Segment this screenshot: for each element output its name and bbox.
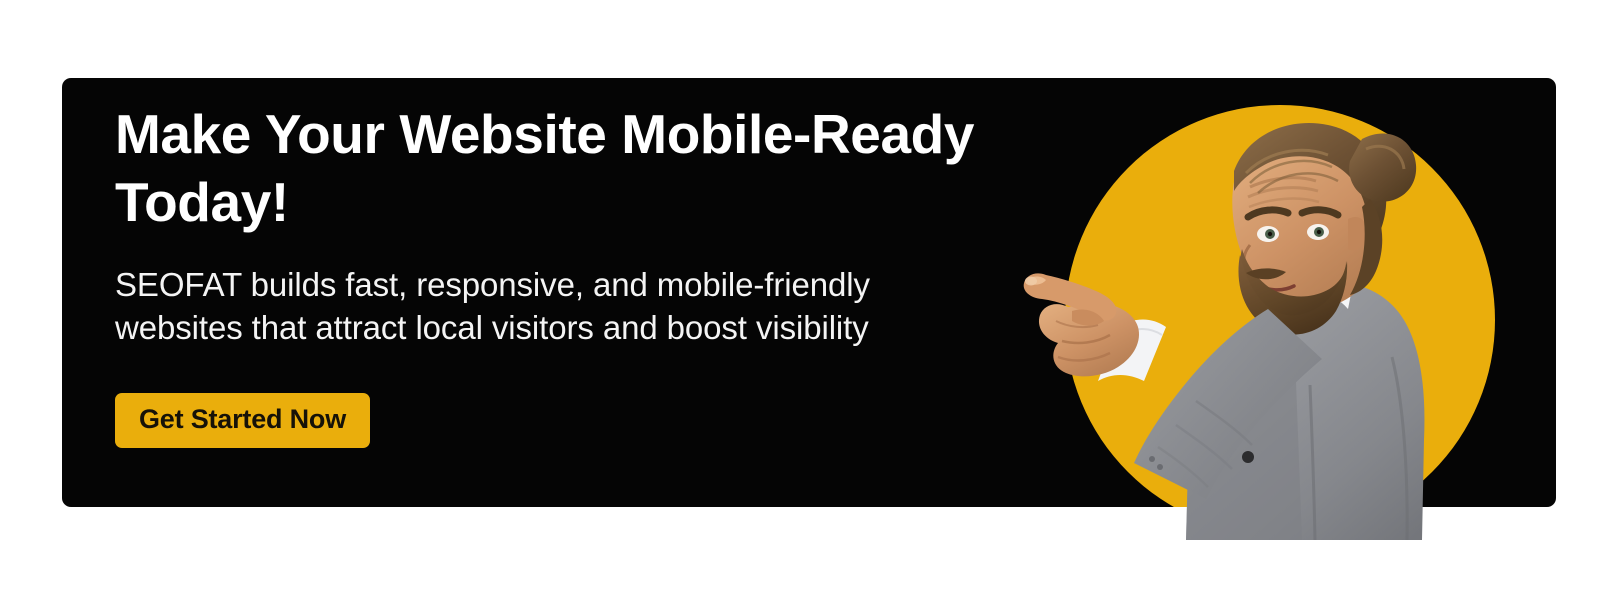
banner-stage: Make Your Website Mobile-Ready Today! SE… [0,0,1620,604]
cta-banner-card: Make Your Website Mobile-Ready Today! SE… [62,78,1556,507]
cta-copy-column: Make Your Website Mobile-Ready Today! SE… [115,100,1035,448]
yellow-accent-circle [1065,105,1495,507]
get-started-now-button[interactable]: Get Started Now [115,393,370,448]
banner-subheadline: SEOFAT builds fast, responsive, and mobi… [115,263,1035,349]
banner-headline: Make Your Website Mobile-Ready Today! [115,100,1035,236]
